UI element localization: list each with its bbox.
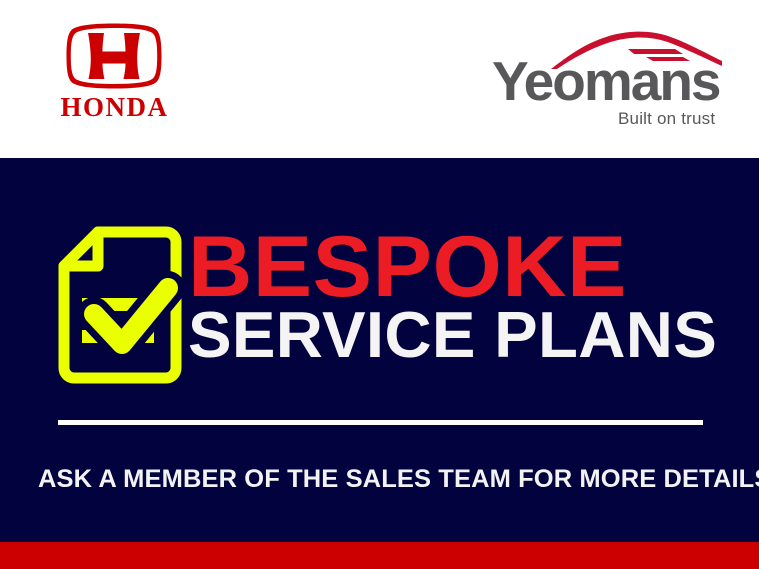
yeomans-logo: Yeomans Built on trust [492, 28, 724, 128]
yeomans-wordmark: Yeomans [492, 54, 720, 109]
promotional-banner: HONDA Yeomans Built on trust [0, 0, 759, 569]
bottom-accent-bar [0, 542, 759, 569]
honda-h-emblem-icon [64, 22, 164, 90]
document-checklist-icon [58, 226, 182, 384]
honda-logo: HONDA [42, 22, 187, 126]
main-navy-panel: BESPOKE SERVICE PLANS ASK A MEMBER OF TH… [0, 158, 759, 542]
divider-rule [58, 420, 703, 425]
headline-block: BESPOKE SERVICE PLANS [188, 224, 708, 374]
call-to-action-text: ASK A MEMBER OF THE SALES TEAM FOR MORE … [38, 466, 747, 492]
headline-service-plans: SERVICE PLANS [188, 302, 717, 367]
yeomans-tagline: Built on trust [618, 110, 715, 127]
logo-header: HONDA Yeomans Built on trust [0, 0, 759, 158]
honda-wordmark: HONDA [42, 94, 187, 121]
